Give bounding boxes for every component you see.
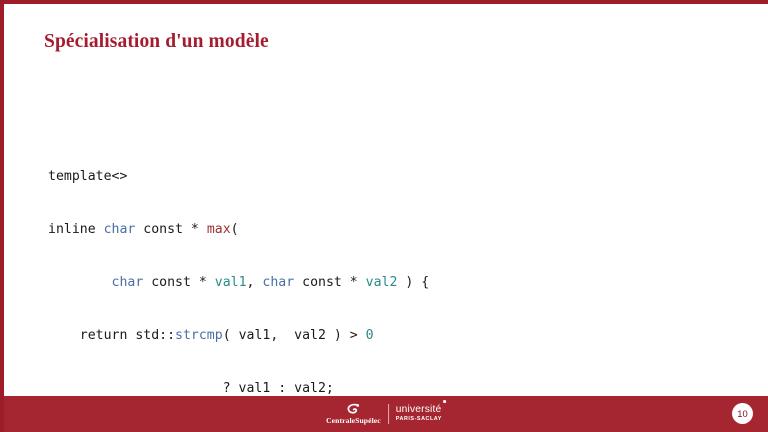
universite-label: université (396, 405, 442, 415)
code-line: return std::strcmp( val1, val2 ) > 0 (48, 327, 429, 345)
page-number: 10 (737, 408, 747, 419)
universite-paris-saclay-logo: université PARIS-SACLAY (396, 405, 442, 422)
centralesupelec-logo: CentraleSupélec (326, 403, 381, 425)
slide-canvas: Spécialisation d'un modèle template<> in… (0, 0, 768, 432)
paris-saclay-label: PARIS-SACLAY (396, 417, 442, 422)
code-listing: template<> inline char const * max( char… (48, 98, 429, 432)
page-number-badge: 10 (732, 403, 753, 424)
code-line: char const * val1, char const * val2 ) { (48, 274, 429, 292)
logo-divider (388, 404, 389, 424)
footer-bar: CentraleSupélec université PARIS-SACLAY … (0, 396, 768, 432)
page-title: Spécialisation d'un modèle (44, 31, 269, 53)
code-line: template<> (48, 168, 429, 186)
code-line: ? val1 : val2; (48, 380, 429, 398)
institution-logo: CentraleSupélec université PARIS-SACLAY (326, 400, 442, 428)
universite-accent-dot (443, 400, 446, 403)
swirl-icon (345, 403, 361, 416)
code-line: inline char const * max( (48, 221, 429, 239)
centralesupelec-label: CentraleSupélec (326, 417, 381, 425)
